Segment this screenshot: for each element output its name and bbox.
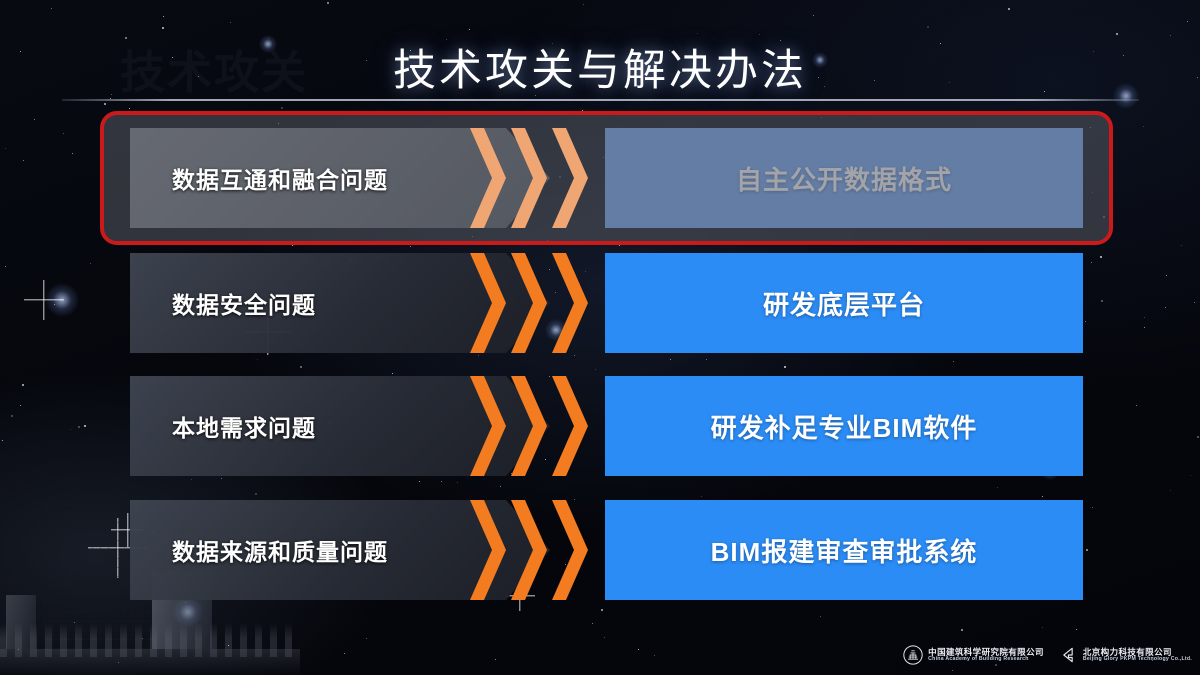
chevron-right-icon bbox=[470, 376, 506, 476]
problem-label: 数据互通和融合问题 bbox=[172, 128, 388, 228]
logo-cabr: 中国建筑科学研究院有限公司 China Academy of Building … bbox=[903, 645, 1044, 665]
cabr-pagoda-icon bbox=[903, 645, 923, 665]
chevron-right-icon bbox=[470, 128, 506, 228]
slide-canvas: 技术攻关 技术攻关与解决办法 数据互通和融合问题自主公开数据格式数据安全问题研发… bbox=[0, 0, 1200, 675]
problem-solution-row[interactable]: 数据来源和质量问题BIM报建审查审批系统 bbox=[0, 500, 1200, 600]
chevron-right-icon bbox=[511, 128, 547, 228]
chevron-right-icon bbox=[552, 376, 588, 476]
chevron-right-icon bbox=[470, 253, 506, 353]
solution-panel[interactable]: BIM报建审查审批系统 bbox=[605, 500, 1083, 600]
logo-cabr-text: 中国建筑科学研究院有限公司 China Academy of Building … bbox=[928, 648, 1044, 662]
chevron-arrow-group bbox=[470, 376, 588, 476]
logo-glory-pkpm-text: 北京构力科技有限公司 Beijing Glory PKPM Technology… bbox=[1083, 648, 1192, 662]
glory-pkpm-g-icon bbox=[1058, 645, 1078, 665]
chevron-right-icon bbox=[552, 128, 588, 228]
chevron-arrow-group bbox=[470, 500, 588, 600]
chevron-right-icon bbox=[511, 500, 547, 600]
solution-panel[interactable]: 研发补足专业BIM软件 bbox=[605, 376, 1083, 476]
problem-label: 数据安全问题 bbox=[172, 253, 316, 353]
logo-cabr-en: China Academy of Building Research bbox=[928, 657, 1044, 662]
logo-bar: 中国建筑科学研究院有限公司 China Academy of Building … bbox=[903, 645, 1192, 665]
problem-label: 本地需求问题 bbox=[172, 376, 316, 476]
problem-solution-row[interactable]: 数据安全问题研发底层平台 bbox=[0, 253, 1200, 353]
problem-solution-list: 数据互通和融合问题自主公开数据格式数据安全问题研发底层平台本地需求问题研发补足专… bbox=[0, 0, 1200, 675]
chevron-right-icon bbox=[552, 253, 588, 353]
chevron-right-icon bbox=[470, 500, 506, 600]
problem-solution-row[interactable]: 本地需求问题研发补足专业BIM软件 bbox=[0, 376, 1200, 476]
problem-label: 数据来源和质量问题 bbox=[172, 500, 388, 600]
chevron-right-icon bbox=[552, 500, 588, 600]
logo-glory-pkpm-en: Beijing Glory PKPM Technology Co.,Ltd. bbox=[1083, 657, 1192, 662]
logo-glory-pkpm: 北京构力科技有限公司 Beijing Glory PKPM Technology… bbox=[1058, 645, 1192, 665]
chevron-arrow-group bbox=[470, 128, 588, 228]
chevron-right-icon bbox=[511, 376, 547, 476]
chevron-arrow-group bbox=[470, 253, 588, 353]
solution-panel[interactable]: 研发底层平台 bbox=[605, 253, 1083, 353]
chevron-right-icon bbox=[511, 253, 547, 353]
